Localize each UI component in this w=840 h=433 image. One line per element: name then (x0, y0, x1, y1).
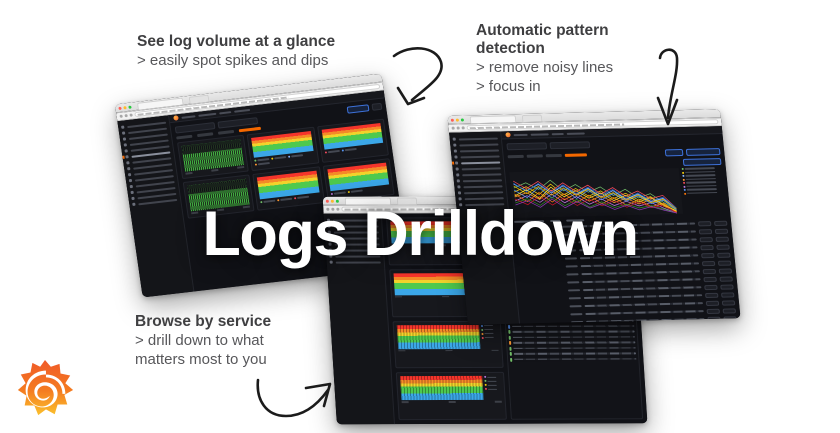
panel-legend (481, 324, 499, 348)
browser-tab[interactable] (470, 115, 517, 123)
tab-labels[interactable] (197, 132, 213, 137)
breadcrumb[interactable] (513, 133, 527, 135)
service-select[interactable] (549, 141, 590, 149)
panel-nginx-json[interactable] (392, 320, 503, 368)
callout-line: > easily spot spikes and dips (137, 51, 387, 70)
profiles-icon (456, 167, 459, 170)
callout-heading: Browse by service (135, 313, 340, 331)
close-icon[interactable] (118, 106, 121, 109)
refresh-button[interactable] (371, 103, 382, 111)
time-range-picker[interactable] (347, 104, 370, 113)
minimize-icon[interactable] (123, 106, 126, 109)
sidebar-item-testing[interactable] (457, 178, 502, 182)
testing-icon (457, 179, 460, 182)
maximize-icon[interactable] (128, 105, 131, 108)
home-icon (453, 138, 456, 141)
home-icon (121, 125, 124, 128)
close-icon[interactable] (451, 118, 454, 121)
breadcrumb[interactable] (552, 132, 564, 134)
callout-line: > drill down to what (135, 331, 340, 350)
tab-patterns[interactable] (239, 127, 261, 132)
apps-icon (458, 191, 461, 194)
tab-logs[interactable] (508, 155, 524, 158)
frontend-icon (130, 191, 133, 194)
back-icon[interactable] (119, 115, 122, 118)
server-icon (129, 179, 132, 182)
dashboard-icon (454, 150, 457, 153)
server-icon (457, 185, 460, 188)
callout-line: > focus in (476, 77, 661, 96)
poster-canvas: Logs Drilldown See log volume at a glanc… (0, 0, 840, 433)
breadcrumb[interactable] (219, 111, 231, 114)
curved-arrow-down-left-icon (388, 40, 450, 118)
include-button[interactable] (706, 308, 720, 313)
sidebar-item-profiles[interactable] (456, 166, 501, 170)
panel-namespace[interactable] (317, 119, 389, 163)
profiles-icon (126, 161, 129, 164)
sidebar-item-alerts[interactable] (456, 172, 501, 176)
back-icon[interactable] (452, 127, 455, 130)
callout-heading: Automatic pattern detection (476, 22, 661, 58)
bell-icon (127, 167, 130, 170)
grafana-logo-icon (505, 132, 510, 137)
tab-fields[interactable] (218, 130, 234, 135)
panel-output[interactable] (396, 372, 507, 420)
log-row[interactable] (508, 329, 634, 333)
log-row[interactable] (510, 357, 636, 361)
grafana-logo-icon (173, 115, 179, 121)
star-icon (453, 144, 456, 147)
tab-logs[interactable] (176, 135, 192, 140)
breadcrumb[interactable] (234, 108, 250, 112)
breadcrumb[interactable] (198, 112, 216, 116)
stacked-area-chart (400, 376, 484, 400)
callout-line: matters most to you (135, 350, 340, 369)
logs-icon (455, 161, 458, 164)
panel-detected-level[interactable] (177, 135, 249, 179)
exclude-button[interactable] (723, 308, 737, 313)
exclude-button[interactable] (723, 316, 737, 321)
exclude-button[interactable] (722, 300, 736, 305)
datasource-select[interactable] (506, 142, 547, 150)
sidebar-item-dashboards[interactable] (454, 148, 499, 152)
log-row[interactable] (508, 324, 634, 328)
dashboard-icon (123, 137, 126, 140)
panel-cluster[interactable] (247, 127, 319, 171)
browser-tab[interactable] (522, 114, 543, 121)
forward-icon[interactable] (457, 127, 460, 130)
log-row[interactable] (509, 340, 635, 344)
star-icon (122, 131, 125, 134)
exclude-button[interactable] (719, 276, 733, 281)
compass-icon (124, 143, 127, 146)
include-button[interactable] (707, 316, 721, 321)
include-button[interactable] (704, 284, 718, 289)
grafana-logo (14, 358, 76, 420)
reload-icon[interactable] (462, 126, 465, 129)
include-button[interactable] (703, 268, 717, 273)
panel-legend (484, 376, 502, 400)
compass-icon (454, 155, 457, 158)
hooked-arrow-down-icon (652, 44, 688, 130)
minimize-icon[interactable] (456, 118, 459, 121)
sidebar-item-home[interactable] (453, 137, 498, 141)
tab-patterns[interactable] (565, 153, 587, 157)
callout-pattern-detection: Automatic pattern detection > remove noi… (476, 22, 661, 96)
apps-icon (130, 185, 133, 188)
open-in-explore-button[interactable] (683, 158, 722, 166)
forward-icon[interactable] (124, 114, 127, 117)
add-pattern-button[interactable] (686, 148, 721, 156)
curved-arrow-up-right-icon (252, 378, 336, 424)
hide-patterns-button[interactable] (665, 149, 684, 156)
sidebar-item-logs[interactable] (452, 160, 500, 164)
callout-browse-by-service: Browse by service > drill down to what m… (135, 313, 340, 369)
tab-labels[interactable] (527, 154, 543, 157)
exclude-button[interactable] (721, 292, 735, 297)
log-row[interactable] (510, 351, 636, 355)
plug-icon (131, 197, 134, 200)
tab-fields[interactable] (546, 154, 562, 157)
breadcrumb[interactable] (181, 115, 195, 119)
metrics-icon (124, 149, 127, 152)
grafana-logo-icon (14, 358, 76, 420)
sidebar-item-infrastructure[interactable] (457, 184, 502, 188)
logs-icon (125, 155, 128, 158)
callout-heading: See log volume at a glance (137, 33, 387, 51)
maximize-icon[interactable] (461, 118, 464, 121)
sidebar-item-starred[interactable] (453, 143, 498, 147)
bell-icon (456, 173, 459, 176)
breadcrumb[interactable] (531, 133, 549, 135)
reload-icon[interactable] (129, 113, 132, 116)
testing-icon (128, 173, 131, 176)
exclude-button[interactable] (719, 268, 733, 273)
sidebar-item-applications[interactable] (458, 190, 503, 194)
exclude-button[interactable] (720, 284, 734, 289)
callout-log-volume: See log volume at a glance > easily spot… (137, 33, 387, 70)
include-button[interactable] (706, 300, 720, 305)
page-title: Logs Drilldown (0, 203, 840, 266)
include-button[interactable] (705, 292, 719, 297)
sidebar-item-explore[interactable] (454, 154, 499, 158)
include-button[interactable] (703, 276, 717, 281)
log-row[interactable] (509, 346, 635, 350)
log-row[interactable] (509, 335, 635, 339)
breadcrumb[interactable] (567, 132, 585, 134)
callout-line: > remove noisy lines (476, 58, 661, 77)
stacked-area-chart (397, 324, 481, 348)
